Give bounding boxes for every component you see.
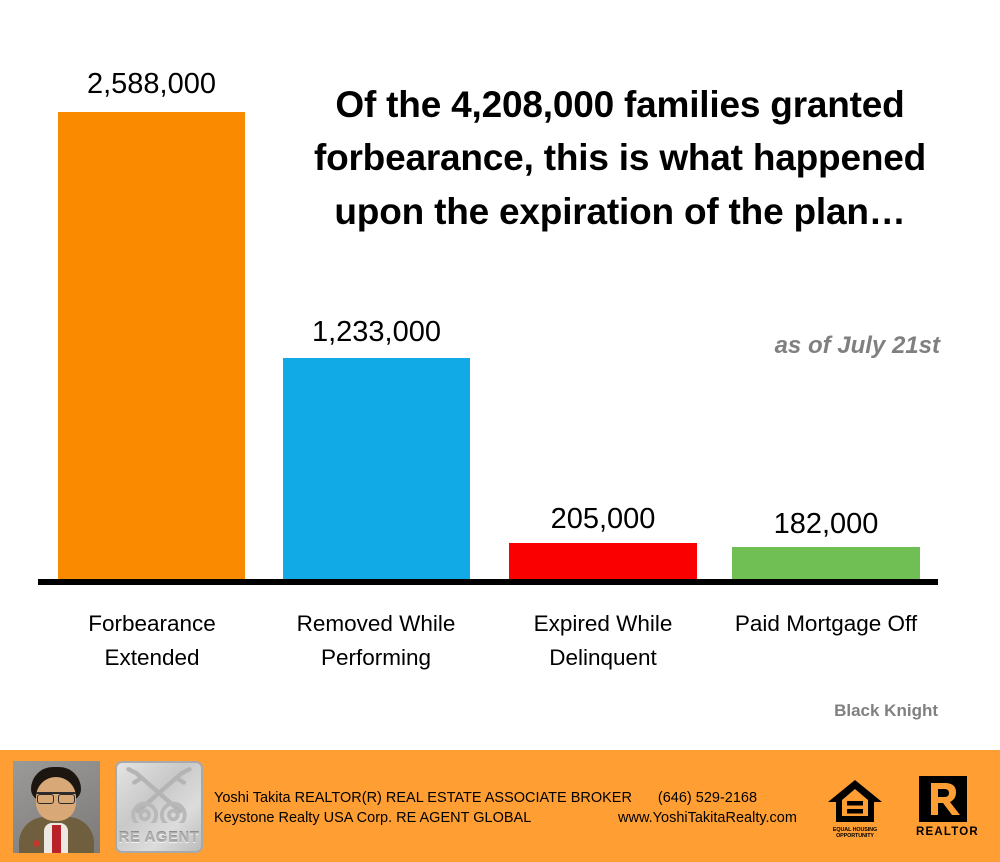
realtor-logo: REALTOR (916, 776, 971, 838)
phone-number[interactable]: (646) 529-2168 (600, 789, 815, 809)
source-attribution: Black Knight (834, 701, 938, 721)
crossed-keys-icon (117, 767, 201, 823)
equal-housing-opportunity-icon: EQUAL HOUSING OPPORTUNITY (826, 778, 884, 838)
realtor-label: REALTOR (916, 826, 971, 838)
category-label-0-line2: Extended (52, 641, 252, 675)
bar-value-2: 205,000 (509, 503, 697, 536)
website-url[interactable]: www.YoshiTakitaRealty.com (600, 809, 815, 829)
bar-value-1: 1,233,000 (283, 316, 470, 349)
bar-removed-while-performing (283, 358, 470, 579)
bar-paid-mortgage-off (732, 547, 920, 579)
agent-headshot-photo (13, 761, 100, 853)
category-label-2-line1: Expired While (503, 607, 703, 641)
re-agent-logo: RE AGENT (115, 761, 203, 853)
category-label-0-line1: Forbearance (52, 607, 252, 641)
agent-company-line: Keystone Realty USA Corp. RE AGENT GLOBA… (214, 809, 632, 829)
category-label-2-line2: Delinquent (503, 641, 703, 675)
agent-name-line: Yoshi Takita REALTOR(R) REAL ESTATE ASSO… (214, 789, 632, 809)
as-of-note: as of July 21st (560, 332, 940, 360)
category-label-1: Removed While Performing (276, 607, 476, 675)
category-label-0: Forbearance Extended (52, 607, 252, 675)
agent-info-text: Yoshi Takita REALTOR(R) REAL ESTATE ASSO… (214, 789, 632, 828)
photo-lapel-pin (33, 840, 40, 847)
eho-label: EQUAL HOUSING OPPORTUNITY (826, 827, 884, 839)
bar-expired-while-delinquent (509, 543, 697, 579)
bar-value-0: 2,588,000 (58, 68, 245, 101)
photo-tie (52, 825, 61, 853)
x-axis-line (38, 579, 938, 585)
re-agent-logo-text: RE AGENT (117, 829, 201, 846)
realtor-r-glyph (919, 776, 967, 822)
bar-forbearance-extended (58, 112, 245, 579)
eho-label-line2: OPPORTUNITY (826, 833, 884, 839)
category-label-1-line1: Removed While (276, 607, 476, 641)
contact-info: (646) 529-2168 www.YoshiTakitaRealty.com (600, 789, 815, 828)
category-label-2: Expired While Delinquent (503, 607, 703, 675)
slide-canvas: 2,588,000 1,233,000 205,000 182,000 Forb… (0, 0, 1000, 750)
category-label-1-line2: Performing (276, 641, 476, 675)
eho-house-glyph (826, 778, 884, 826)
page-title: Of the 4,208,000 families granted forbea… (290, 78, 950, 238)
photo-glasses (36, 792, 76, 802)
category-label-3: Paid Mortgage Off (726, 607, 926, 641)
bar-value-3: 182,000 (732, 508, 920, 541)
category-label-3-line1: Paid Mortgage Off (726, 607, 926, 641)
